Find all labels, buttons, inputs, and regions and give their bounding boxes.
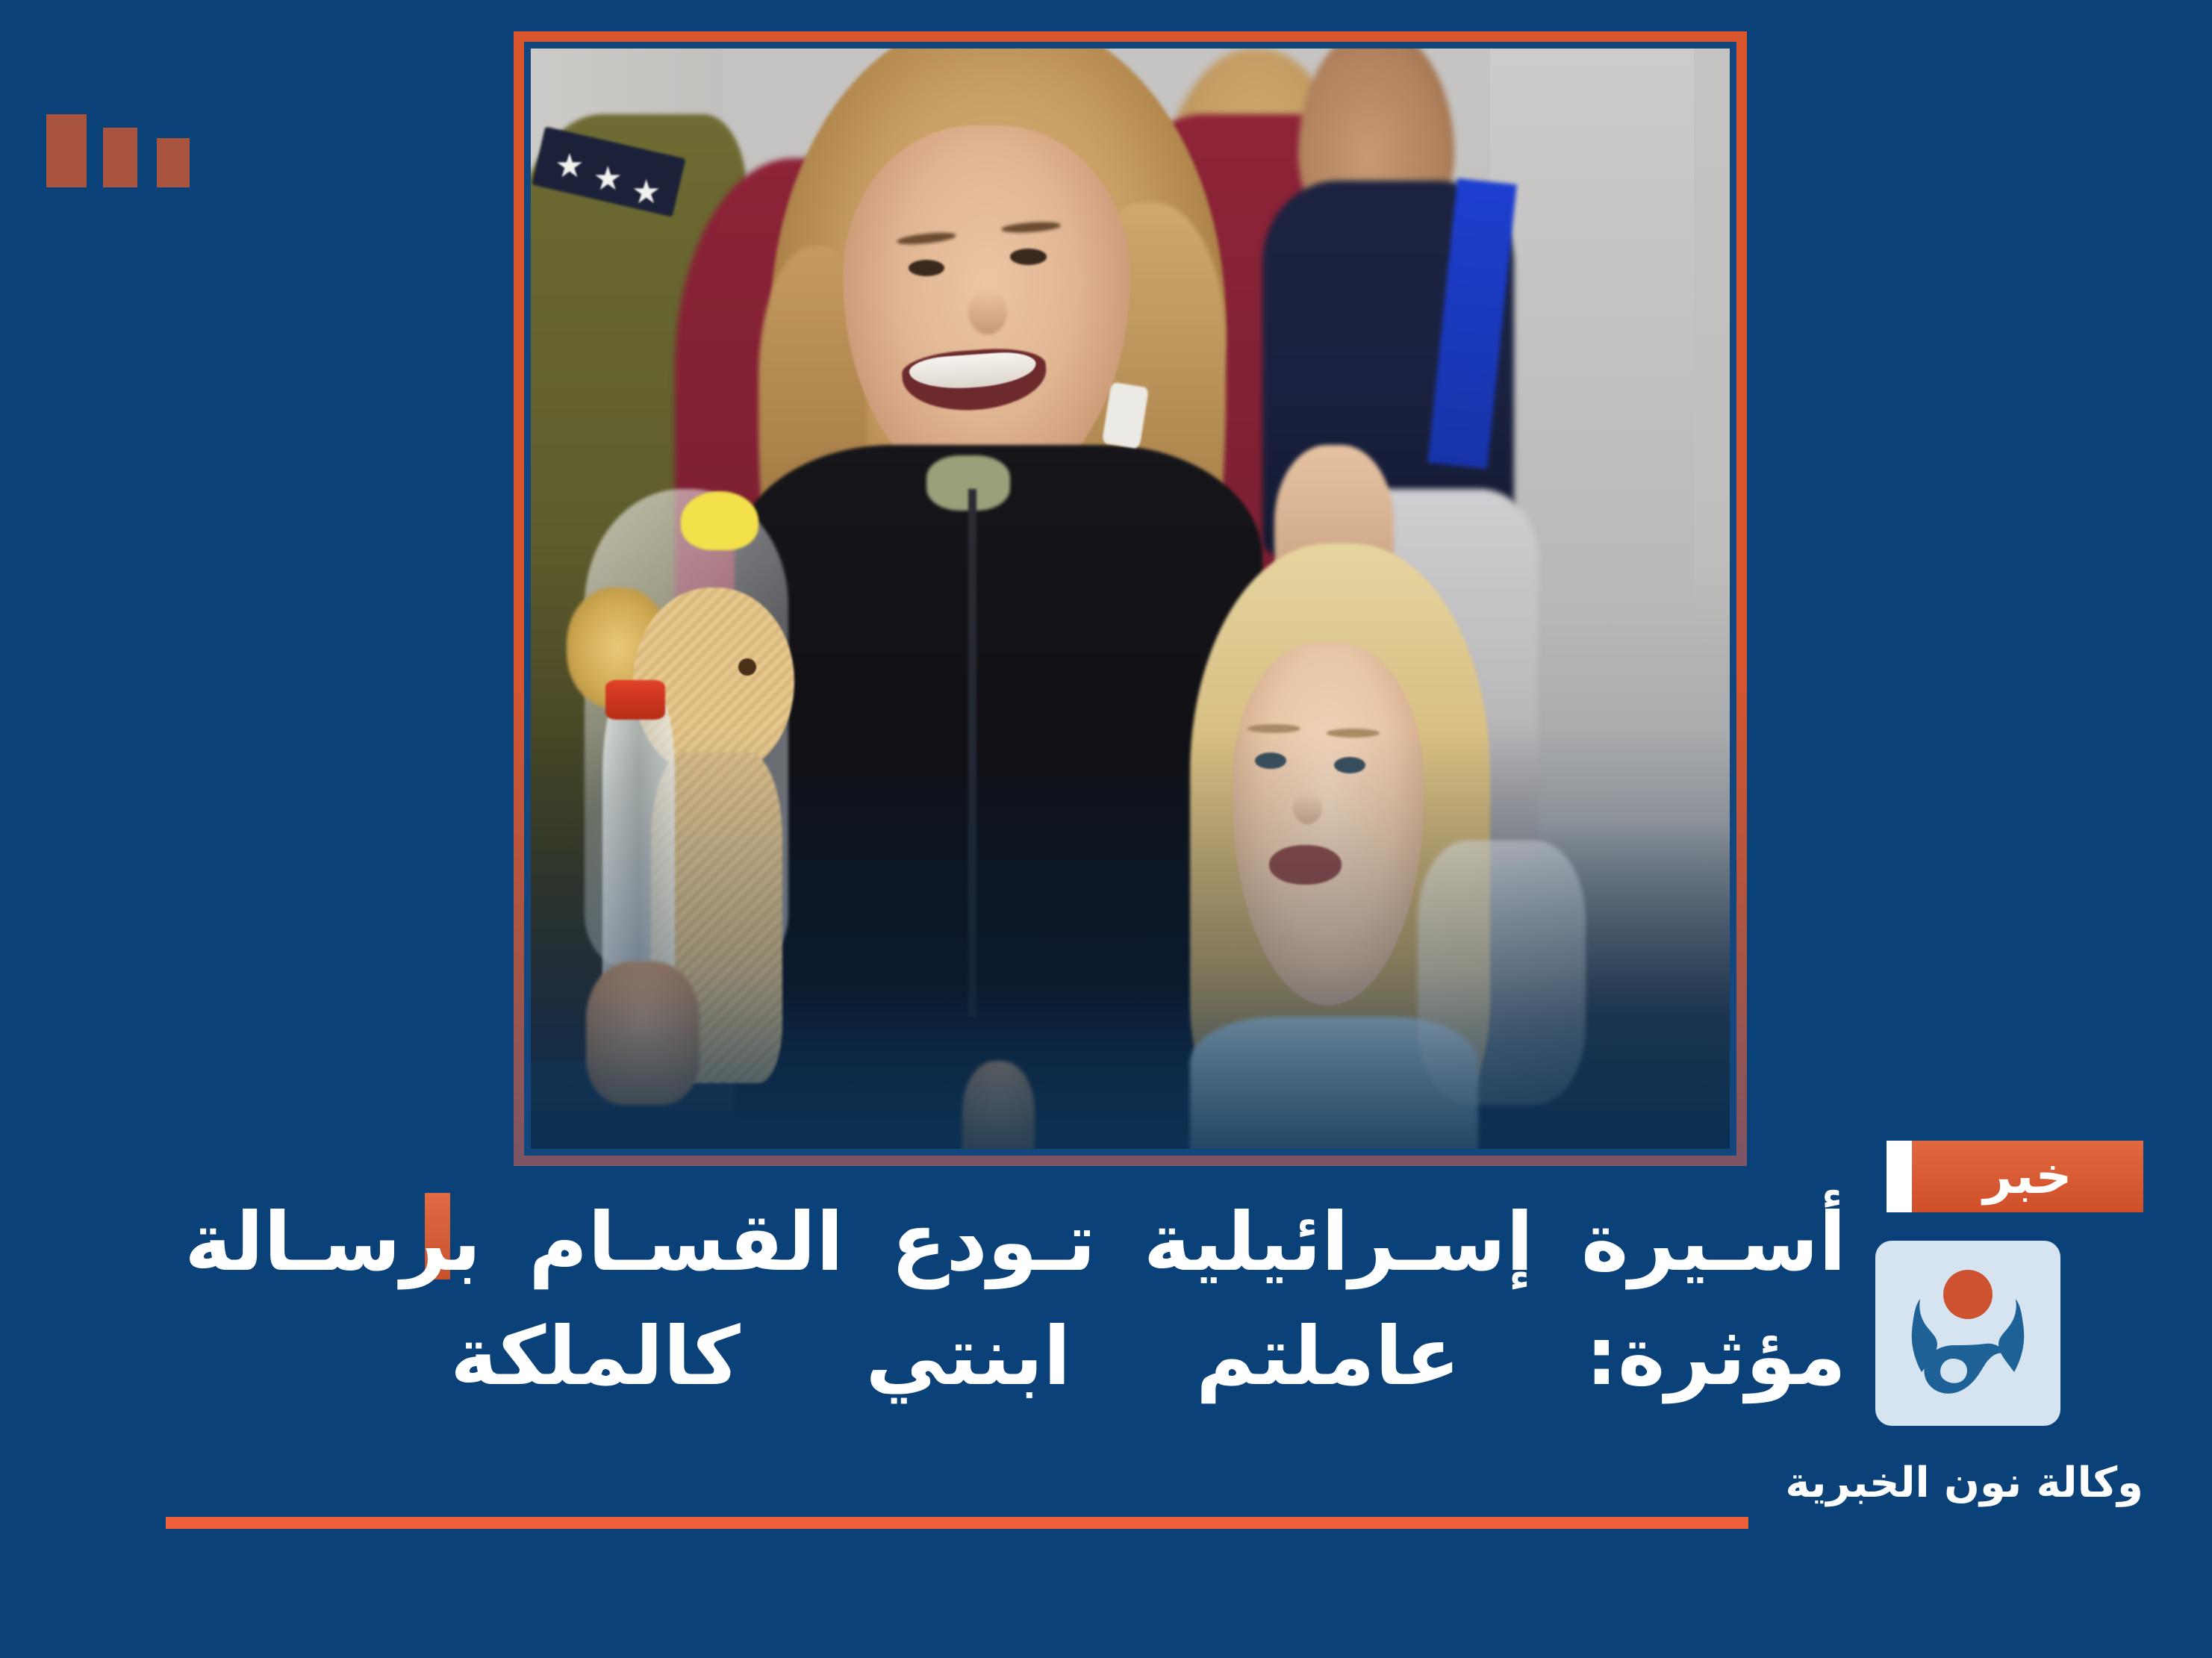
news-badge-white-tab: [1887, 1141, 1912, 1212]
photo-crochet-doll-eye: [738, 658, 756, 676]
agency-name: وكالة نون الخبرية: [1792, 1460, 2143, 1506]
photo-jacket-zipper: [968, 489, 976, 1017]
brand-bar-3: [157, 138, 190, 187]
photo-rank-star-icon: ★: [632, 176, 661, 209]
photo-rank-star-icon: ★: [555, 150, 584, 183]
headline: أسـيرة إسـرائيلية تـودع القسـام برسـالة …: [450, 1185, 1846, 1415]
news-badge: خبر: [1912, 1141, 2143, 1212]
photo-child-nose: [1293, 791, 1322, 824]
photo-child-mouth: [1269, 845, 1341, 885]
brand-bar-1: [46, 114, 87, 187]
bottom-divider: [166, 1517, 1748, 1529]
photo-rank-star-icon: ★: [593, 163, 623, 196]
headline-line-2: مؤثرة: عاملتم ابنتي كالملكة: [450, 1300, 1846, 1414]
photo-yellow-ribbon: [681, 491, 758, 551]
photo-plastic-bag-right: [1418, 841, 1586, 1105]
photo-woman-eye-right: [1010, 249, 1046, 265]
noon-news-agency-logo: [1875, 1241, 2060, 1426]
brand-bar-2: [103, 128, 137, 187]
photo-woman-black-jacket: [735, 445, 1262, 1149]
news-photo-frame: ★ ★ ★: [514, 31, 1747, 1166]
photo-child-brow-right: [1327, 729, 1380, 738]
news-photo: ★ ★ ★: [531, 49, 1730, 1149]
brand-column: خبر وكالة نون الخبرية: [1792, 1141, 2143, 1506]
headline-line-1: أسـيرة إسـرائيلية تـودع القسـام برسـالة: [450, 1185, 1846, 1300]
photo-woman-eye-left: [909, 260, 944, 276]
photo-child-brow-left: [1247, 724, 1300, 733]
photo-water-bottle-cap: [605, 680, 665, 720]
news-card: ★ ★ ★: [0, 0, 2212, 1658]
three-bars-mark: [46, 98, 203, 187]
news-badge-label: خبر: [1983, 1151, 2072, 1202]
photo-woman-hand: [586, 962, 700, 1105]
photo-thumb: [962, 1061, 1034, 1149]
photo-woman-nose: [968, 290, 1006, 334]
